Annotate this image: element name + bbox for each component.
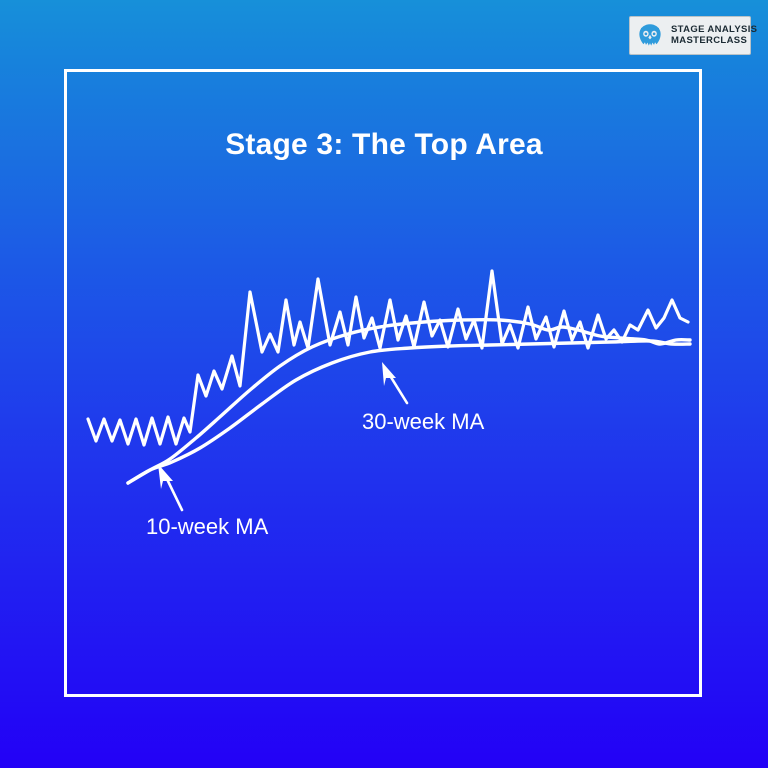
ma-10-week-line <box>128 320 690 483</box>
ma-30-week-callout <box>382 362 407 403</box>
ma-30-week-leader-line <box>389 374 407 403</box>
ma-30-week-label: 30-week MA <box>362 409 484 435</box>
ma-10-week-leader-line <box>166 477 182 510</box>
chart-plot <box>0 0 768 768</box>
ma-10-week-callout <box>158 464 182 510</box>
ma-10-week-label: 10-week MA <box>146 514 268 540</box>
chart-canvas: STAGE ANALYSIS MASTERCLASS Stage 3: The … <box>0 0 768 768</box>
